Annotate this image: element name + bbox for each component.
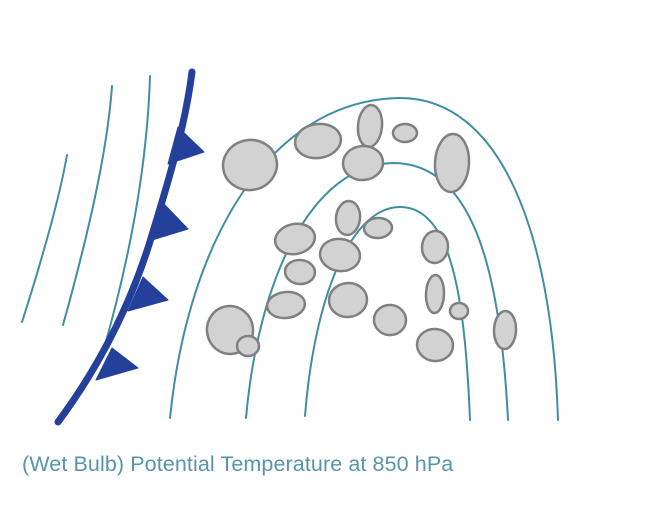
precipitation-blob — [356, 104, 384, 148]
precipitation-blob-group — [204, 104, 517, 363]
precipitation-blob — [393, 124, 417, 142]
precipitation-blob — [425, 275, 444, 314]
precipitation-blob — [237, 336, 259, 356]
weather-diagram-canvas — [0, 0, 650, 524]
precipitation-blob — [415, 327, 455, 363]
cold-air-isotherm-2 — [63, 86, 112, 325]
precipitation-blob — [421, 230, 449, 264]
precipitation-blob — [219, 136, 281, 195]
cold-air-isotherm-1 — [22, 155, 67, 322]
precipitation-blob — [434, 133, 471, 193]
precipitation-blob — [342, 144, 385, 181]
cold-front-group — [58, 72, 204, 422]
precipitation-blob — [493, 311, 516, 350]
weather-diagram-figure: (Wet Bulb) Potential Temperature at 850 … — [0, 0, 650, 524]
precipitation-blob — [293, 121, 343, 161]
precipitation-blob — [327, 281, 368, 319]
precipitation-blob — [266, 290, 307, 320]
precipitation-blob — [450, 303, 468, 319]
precipitation-blob — [373, 304, 407, 337]
precipitation-blob — [318, 236, 362, 273]
precipitation-blob — [284, 259, 316, 285]
precipitation-blob — [363, 217, 392, 239]
figure-caption: (Wet Bulb) Potential Temperature at 850 … — [22, 452, 632, 477]
precipitation-blob — [272, 220, 317, 258]
